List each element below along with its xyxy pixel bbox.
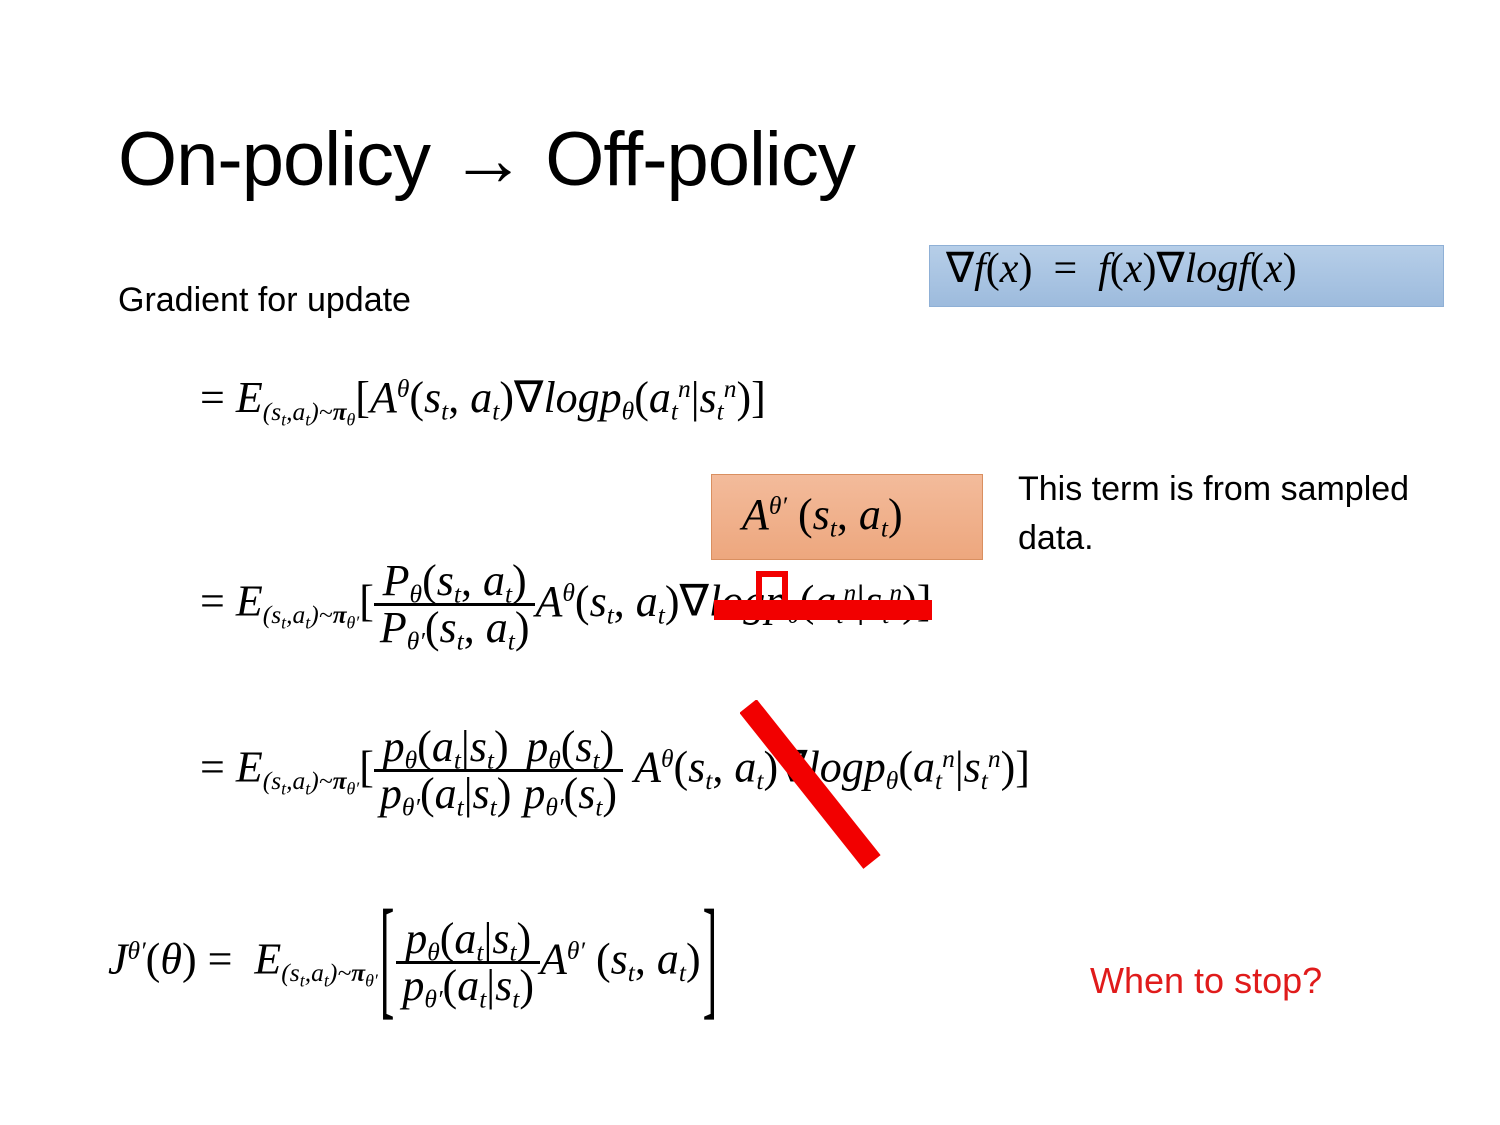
advantage-theta-prime-formula: Aθ′ (st, at) (742, 493, 903, 537)
equation-line-3: = E(st,at)~πθ′[pθ(at|st)pθ′(at|st)pθ(st)… (200, 726, 1030, 817)
state-probability-ratio-fraction: pθ(st)pθ′(st) (517, 725, 623, 816)
gradient-log-identity-box: ∇f(x) = f(x)∇logf(x) (929, 245, 1444, 307)
when-to-stop-question: When to stop? (1090, 960, 1322, 1002)
slide-canvas: On-policy → Off-policy Gradient for upda… (0, 0, 1500, 1125)
importance-weight-fraction: pθ(at|st)pθ′(at|st) (396, 917, 540, 1008)
red-strikethrough-bar (714, 600, 932, 620)
action-probability-ratio-fraction: pθ(at|st)pθ′(at|st) (374, 725, 518, 816)
equation-line-4-objective: Jθ′(θ) = E(st,at)~πθ′[pθ(at|st)pθ′(at|st… (108, 918, 719, 1009)
probability-ratio-fraction: Pθ(st, at)Pθ′(st, at) (374, 559, 536, 650)
advantage-from-sampled-data-box: Aθ′ (st, at) (711, 474, 983, 560)
left-bracket: [ (380, 892, 395, 1026)
struck-advantage-term: Aθ(st, at) (535, 577, 679, 626)
red-theta-highlight-box (756, 571, 788, 611)
sampled-data-note: This term is from sampled data. (1018, 465, 1418, 564)
right-bracket: ] (703, 892, 718, 1026)
gradient-for-update-label: Gradient for update (118, 281, 411, 320)
gradient-log-identity-formula: ∇f(x) = f(x)∇logf(x) (946, 248, 1297, 290)
equation-line-1: = E(st,at)~πθ[Aθ(st, at)∇logpθ(atn|stn)] (200, 376, 766, 420)
page-title: On-policy → Off-policy (118, 116, 855, 203)
